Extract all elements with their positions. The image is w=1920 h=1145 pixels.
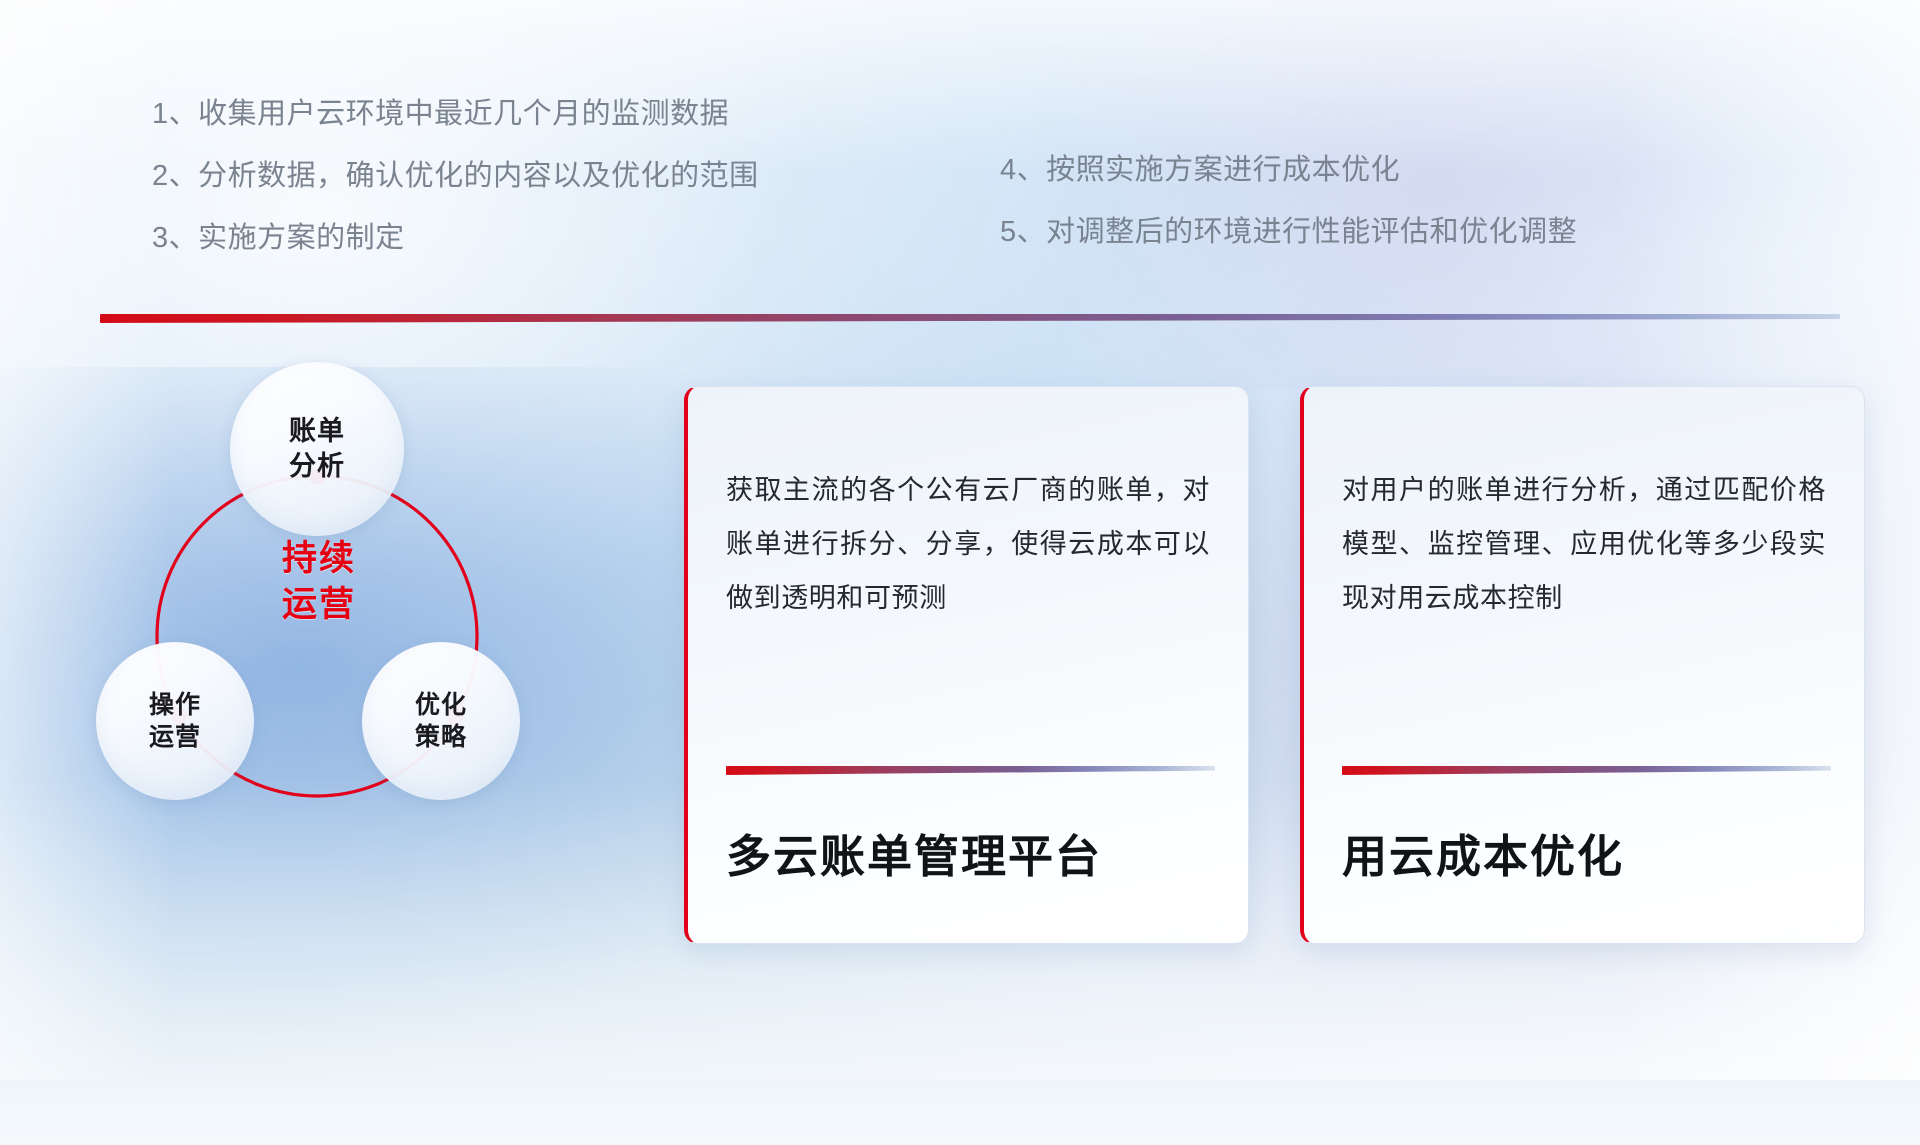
section-divider-rule <box>100 314 1840 323</box>
card-body-text: 获取主流的各个公有云厂商的账单，对账单进行拆分、分享，使得云成本可以做到透明和可… <box>726 463 1210 625</box>
venn-bubble-label: 优化 策略 <box>415 689 467 753</box>
venn-bubble-optimization-strategy[interactable]: 优化 策略 <box>362 642 520 800</box>
venn-label-line-2: 策略 <box>415 723 467 751</box>
card-body-text: 对用户的账单进行分析，通过匹配价格模型、监控管理、应用优化等多少段实现对用云成本… <box>1342 463 1826 625</box>
card-title: 用云成本优化 <box>1342 820 1624 885</box>
card-title: 多云账单管理平台 <box>726 820 1102 885</box>
card-divider-rule <box>726 766 1215 775</box>
venn-bubble-operations[interactable]: 操作 运营 <box>96 642 254 800</box>
steps-left-column: 1、收集用户云环境中最近几个月的监测数据 2、分析数据，确认优化的内容以及优化的… <box>152 100 759 286</box>
card-cloud-cost-optimization[interactable]: 对用户的账单进行分析，通过匹配价格模型、监控管理、应用优化等多少段实现对用云成本… <box>1300 386 1865 944</box>
venn-center-line-1: 持续 <box>282 539 356 578</box>
venn-label-line-1: 优化 <box>415 691 467 719</box>
card-divider-rule <box>1342 766 1831 775</box>
venn-center-line-2: 运营 <box>282 585 356 624</box>
venn-label-line-2: 分析 <box>289 451 345 481</box>
venn-label-line-1: 账单 <box>289 416 345 446</box>
venn-center-label: 持续 运营 <box>224 536 414 627</box>
venn-diagram: 账单 分析 操作 运营 优化 策略 持续 运营 <box>96 350 566 850</box>
card-multi-cloud-billing-platform[interactable]: 获取主流的各个公有云厂商的账单，对账单进行拆分、分享，使得云成本可以做到透明和可… <box>684 386 1249 944</box>
step-item-2: 2、分析数据，确认优化的内容以及优化的范围 <box>152 162 759 191</box>
slide-content: 1、收集用户云环境中最近几个月的监测数据 2、分析数据，确认优化的内容以及优化的… <box>0 0 1920 1080</box>
venn-bubble-label: 操作 运营 <box>149 689 201 753</box>
step-item-1: 1、收集用户云环境中最近几个月的监测数据 <box>152 100 759 129</box>
step-item-5: 5、对调整后的环境进行性能评估和优化调整 <box>1000 218 1577 247</box>
venn-label-line-2: 运营 <box>149 723 201 751</box>
venn-bubble-label: 账单 分析 <box>289 414 345 483</box>
venn-label-line-1: 操作 <box>149 691 201 719</box>
venn-bubble-bill-analysis[interactable]: 账单 分析 <box>230 362 404 536</box>
step-item-4: 4、按照实施方案进行成本优化 <box>1000 156 1577 185</box>
steps-right-column: 4、按照实施方案进行成本优化 5、对调整后的环境进行性能评估和优化调整 <box>1000 156 1577 280</box>
step-item-3: 3、实施方案的制定 <box>152 224 759 253</box>
